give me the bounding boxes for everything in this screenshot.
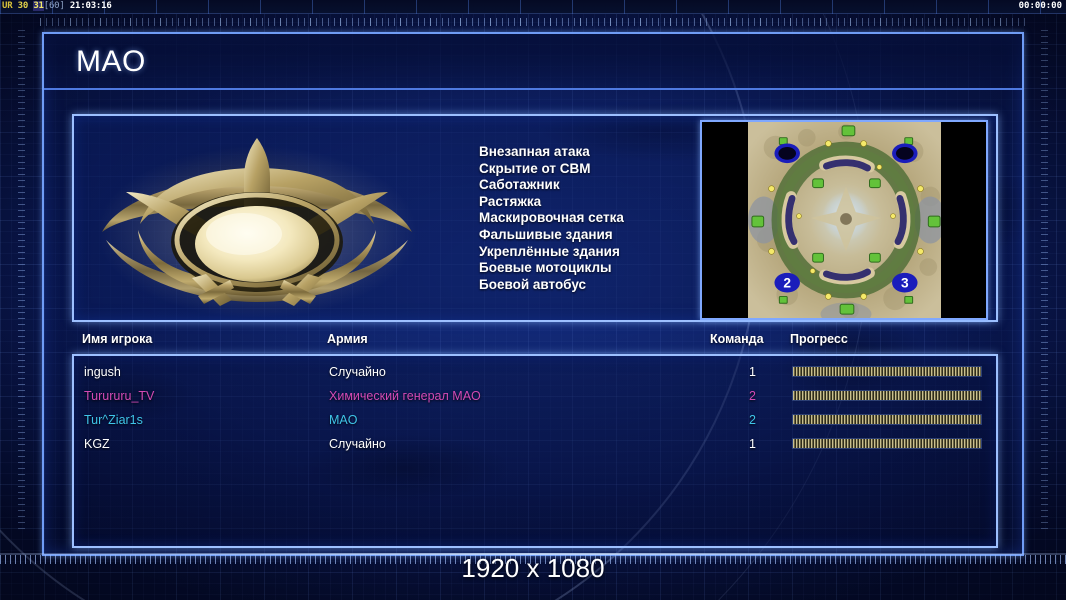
stat-clock: 21:03:16 <box>70 1 112 11</box>
player-progress-bar <box>792 366 982 377</box>
left-ruler <box>18 30 25 530</box>
player-name: Tur^Ziar1s <box>84 411 143 429</box>
column-header-army: Армия <box>327 332 368 346</box>
stat-value-c: [60] <box>44 1 65 11</box>
match-timer: 00:00:00 <box>1019 1 1062 12</box>
table-row[interactable]: Turururu_TV Химический генерал MAO 2 <box>74 384 996 408</box>
column-header-team: Команда <box>710 332 764 346</box>
player-army: Случайно <box>329 435 386 453</box>
main-panel: MAO <box>42 32 1024 556</box>
ability-item: Скрытие от СВМ <box>479 161 729 178</box>
player-table: ingush Случайно 1 Turururu_TV Химический… <box>72 354 998 548</box>
ability-item: Внезапная атака <box>479 144 729 161</box>
player-name: KGZ <box>84 435 110 453</box>
topbar-tick-marks <box>0 0 1066 14</box>
page-title: MAO <box>76 45 146 79</box>
map-preview-image: 2 3 <box>747 122 945 318</box>
ability-item: Саботажник <box>479 177 729 194</box>
minimap-letterbox-right <box>941 122 986 318</box>
top-status-bar: UR 30 31[60] 21:03:16 00:00:00 <box>0 0 1066 14</box>
player-progress-fill <box>793 415 981 424</box>
map-preview[interactable]: 2 3 <box>700 120 988 320</box>
right-ruler <box>1041 30 1048 530</box>
ability-item: Фальшивые здания <box>479 227 729 244</box>
general-info-panel: Внезапная атака Скрытие от СВМ Саботажни… <box>72 114 998 322</box>
player-progress-bar <box>792 438 982 449</box>
table-row[interactable]: ingush Случайно 1 <box>74 360 996 384</box>
player-progress-fill <box>793 439 981 448</box>
player-name: ingush <box>84 363 121 381</box>
ability-item: Растяжка <box>479 194 729 211</box>
top-ruler <box>40 18 1026 26</box>
general-emblem <box>92 120 422 320</box>
player-progress-bar <box>792 414 982 425</box>
player-progress-bar <box>792 390 982 401</box>
resolution-label: 1920 x 1080 <box>0 553 1066 584</box>
player-team: 2 <box>734 411 756 429</box>
gla-general-emblem-icon <box>92 120 422 320</box>
title-bar: MAO <box>44 34 1022 90</box>
game-lobby-screen: UR 30 31[60] 21:03:16 00:00:00 MAO <box>0 0 1066 600</box>
player-progress-fill <box>793 391 981 400</box>
network-stats-readout: UR 30 31[60] 21:03:16 <box>2 1 112 12</box>
stat-value-b: 31 <box>33 1 43 11</box>
minimap-letterbox-left <box>702 122 747 318</box>
general-abilities-list: Внезапная атака Скрытие от СВМ Саботажни… <box>479 144 729 293</box>
start-position-label: 2 <box>783 276 791 291</box>
table-row[interactable]: Tur^Ziar1s MAO 2 <box>74 408 996 432</box>
start-position-label: 3 <box>901 276 909 291</box>
stat-value-a: 30 <box>18 1 28 11</box>
ability-item: Боевой автобус <box>479 277 729 294</box>
column-header-name: Имя игрока <box>82 332 152 346</box>
column-header-progress: Прогресс <box>790 332 848 346</box>
player-army: MAO <box>329 411 357 429</box>
player-army: Химический генерал MAO <box>329 387 481 405</box>
player-team: 1 <box>734 435 756 453</box>
table-row[interactable]: KGZ Случайно 1 <box>74 432 996 456</box>
ability-item: Маскировочная сетка <box>479 210 729 227</box>
player-team: 1 <box>734 363 756 381</box>
player-progress-fill <box>793 367 981 376</box>
player-army: Случайно <box>329 363 386 381</box>
ability-item: Боевые мотоциклы <box>479 260 729 277</box>
ability-item: Укреплённые здания <box>479 244 729 261</box>
player-table-header: Имя игрока Армия Команда Прогресс <box>72 332 998 354</box>
player-team: 2 <box>734 387 756 405</box>
player-name: Turururu_TV <box>84 387 154 405</box>
stat-prefix: UR <box>2 1 12 11</box>
